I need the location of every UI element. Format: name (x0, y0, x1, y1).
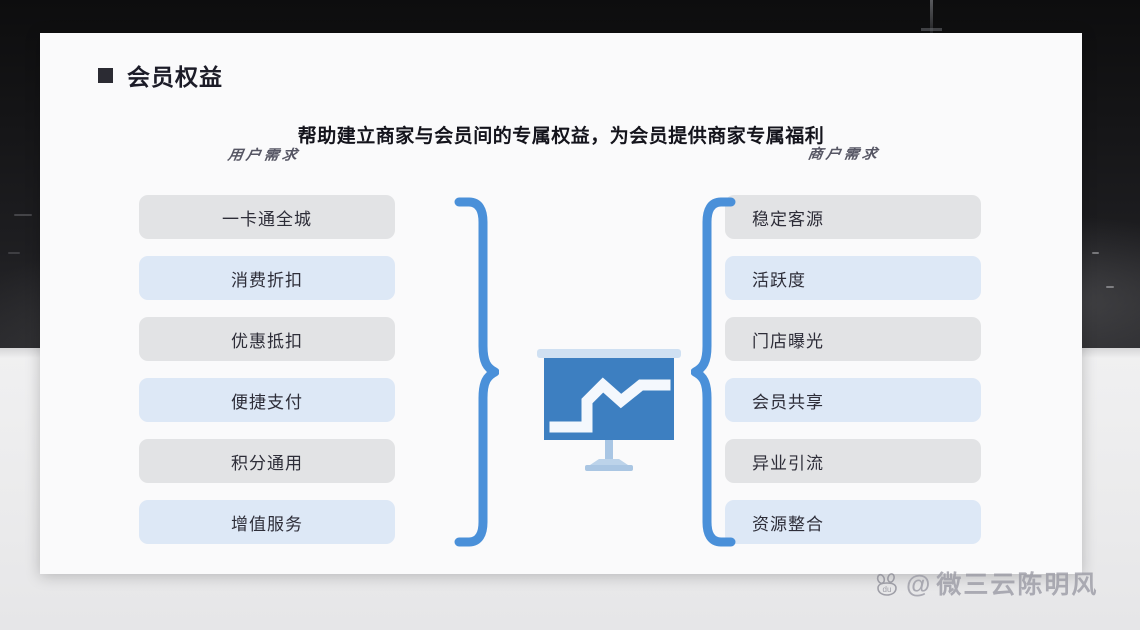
slide-card: 会员权益 帮助建立商家与会员间的专属权益，为会员提供商家专属福利 用户需求 商户… (40, 33, 1082, 574)
photo-speck (1092, 252, 1099, 254)
page-title: 会员权益 (98, 58, 223, 92)
baidu-paw-icon: du (874, 572, 900, 598)
list-item[interactable]: 积分通用 (139, 439, 395, 483)
list-item[interactable]: 便捷支付 (139, 378, 395, 422)
screenshot-stage: 会员权益 帮助建立商家与会员间的专属权益，为会员提供商家专属福利 用户需求 商户… (0, 0, 1140, 630)
square-bullet-icon (98, 68, 113, 83)
list-item[interactable]: 活跃度 (725, 256, 981, 300)
photo-speck (14, 214, 32, 216)
right-curly-brace-icon (691, 196, 737, 548)
presentation-chart-icon (529, 349, 689, 473)
left-curly-brace-icon (453, 196, 499, 548)
right-benefit-column: 稳定客源 活跃度 门店曝光 会员共享 异业引流 资源整合 (725, 195, 981, 561)
photo-speck (1106, 286, 1114, 288)
left-benefit-column: 一卡通全城 消费折扣 优惠抵扣 便捷支付 积分通用 增值服务 (139, 195, 395, 561)
list-item[interactable]: 消费折扣 (139, 256, 395, 300)
list-item[interactable]: 增值服务 (139, 500, 395, 544)
photo-speck (8, 252, 20, 254)
page-title-text: 会员权益 (127, 58, 223, 92)
list-item[interactable]: 一卡通全城 (139, 195, 395, 239)
left-column-caption: 用户需求 (227, 145, 302, 164)
watermark-text: 微三云陈明风 (936, 573, 1098, 598)
right-column-caption: 商户需求 (807, 144, 882, 163)
list-item[interactable]: 资源整合 (725, 500, 981, 544)
list-item[interactable]: 会员共享 (725, 378, 981, 422)
list-item[interactable]: 稳定客源 (725, 195, 981, 239)
list-item[interactable]: 门店曝光 (725, 317, 981, 361)
baidu-logo-text: du (883, 585, 892, 594)
slide-subtitle: 帮助建立商家与会员间的专属权益，为会员提供商家专属福利 (40, 121, 1082, 148)
list-item[interactable]: 异业引流 (725, 439, 981, 483)
list-item[interactable]: 优惠抵扣 (139, 317, 395, 361)
at-symbol: @ (906, 573, 930, 598)
watermark: du @ 微三云陈明风 (874, 572, 1098, 598)
